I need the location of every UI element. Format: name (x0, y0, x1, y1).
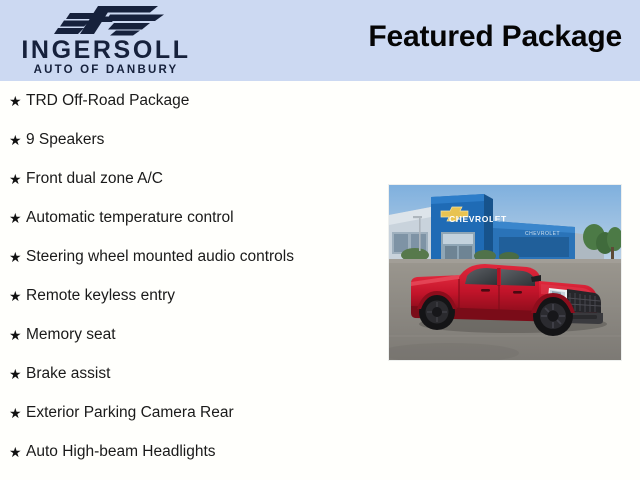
list-item: ★ TRD Off-Road Package (0, 81, 380, 120)
list-item-label: Memory seat (26, 327, 116, 343)
page-header: INGERSOLL AUTO OF DANBURY Featured Packa… (0, 0, 640, 81)
list-item-label: 9 Speakers (26, 132, 104, 148)
star-bullet-icon: ★ (9, 250, 26, 264)
list-item-label: Steering wheel mounted audio controls (26, 249, 294, 265)
list-item: ★ Auto High-beam Headlights (0, 432, 380, 471)
list-item: ★ Automatic temperature control (0, 198, 380, 237)
dealer-tagline: AUTO OF DANBURY (0, 64, 212, 77)
list-item-label: Exterior Parking Camera Rear (26, 405, 234, 421)
list-item-label: TRD Off-Road Package (26, 93, 189, 109)
star-bullet-icon: ★ (9, 328, 26, 342)
star-bullet-icon: ★ (9, 211, 26, 225)
star-bullet-icon: ★ (9, 289, 26, 303)
svg-text:CHEVROLET: CHEVROLET (525, 231, 560, 237)
star-bullet-icon: ★ (9, 406, 26, 420)
list-item-label: Front dual zone A/C (26, 171, 163, 187)
list-item-label: Brake assist (26, 366, 110, 382)
list-item: ★ Brake assist (0, 354, 380, 393)
list-item: ★ Remote keyless entry (0, 276, 380, 315)
list-item-label: Remote keyless entry (26, 288, 175, 304)
list-item: ★ Memory seat (0, 315, 380, 354)
list-item: ★ 9 Speakers (0, 120, 380, 159)
ingersoll-wing-logo-icon (54, 3, 166, 37)
vehicle-photo: CHEVROLET CHEVROLET (388, 184, 622, 361)
list-item: ★ Steering wheel mounted audio controls (0, 237, 380, 276)
star-bullet-icon: ★ (9, 367, 26, 381)
star-bullet-icon: ★ (9, 133, 26, 147)
star-bullet-icon: ★ (9, 94, 26, 108)
list-item-label: Auto High-beam Headlights (26, 444, 216, 460)
star-bullet-icon: ★ (9, 172, 26, 186)
list-item-label: Automatic temperature control (26, 210, 234, 226)
dealer-brand-block: INGERSOLL AUTO OF DANBURY (0, 0, 215, 81)
page-title: Featured Package (368, 20, 622, 54)
dealer-name: INGERSOLL (0, 37, 212, 63)
list-item: ★ Front dual zone A/C (0, 159, 380, 198)
feature-list: ★ TRD Off-Road Package ★ 9 Speakers ★ Fr… (0, 81, 380, 471)
list-item: ★ Exterior Parking Camera Rear (0, 393, 380, 432)
star-bullet-icon: ★ (9, 445, 26, 459)
